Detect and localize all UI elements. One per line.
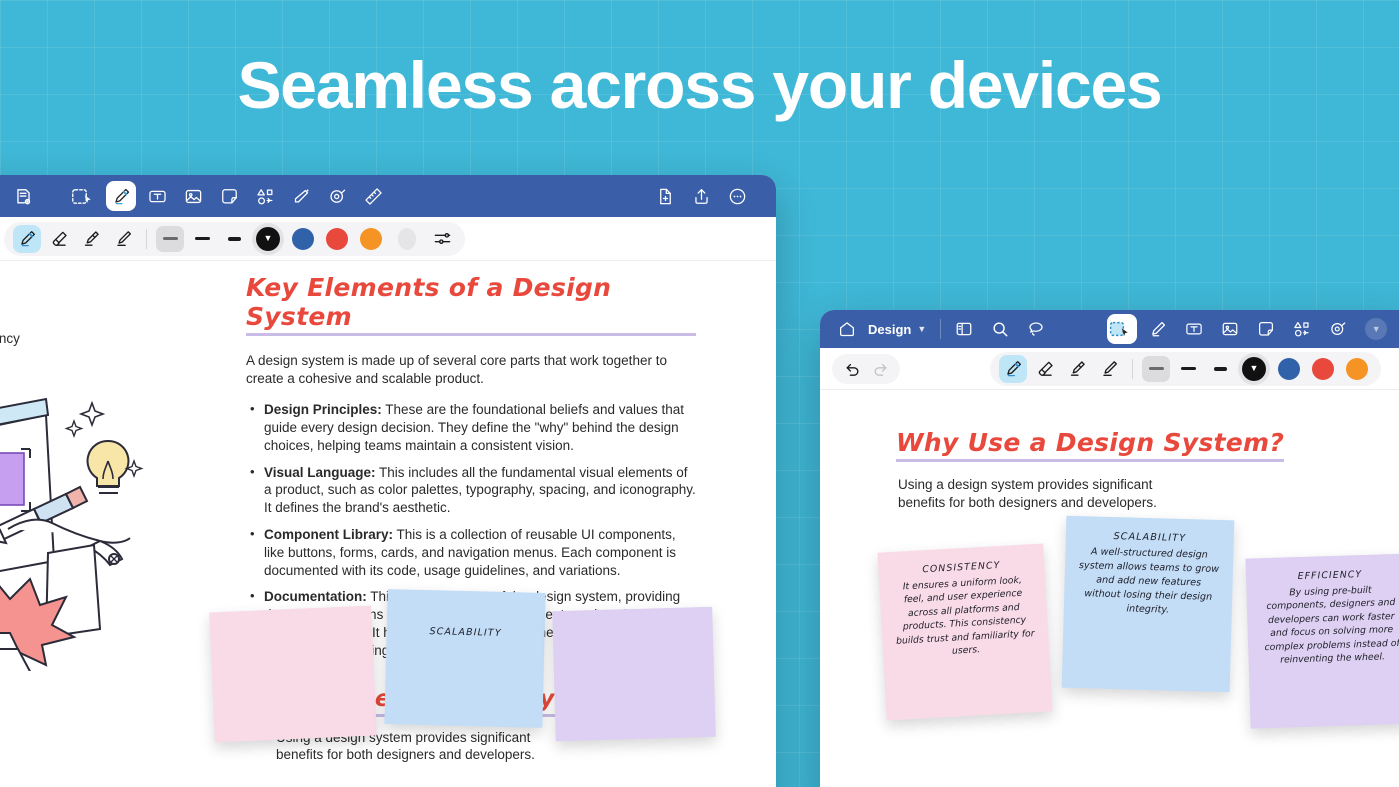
sticky-note-title: SCALABILITY [1078, 530, 1222, 545]
stroke-width-medium[interactable] [188, 226, 216, 252]
intro-paragraph-1: A design system is made up of several co… [246, 352, 696, 387]
color-black[interactable]: ▼ [1242, 357, 1266, 381]
heading-block-1: Key Elements of a Design System [246, 273, 696, 336]
more-tools-icon[interactable]: ▼ [1365, 318, 1387, 340]
magic-eraser-icon[interactable] [286, 181, 316, 211]
laser-pointer-icon[interactable] [322, 181, 352, 211]
sticky-note-title: EFFICIENCY [1258, 568, 1399, 584]
pen-settings-icon[interactable] [428, 225, 456, 253]
image-icon[interactable] [1215, 314, 1245, 344]
tablet-pen-palette: ▼ [820, 348, 1399, 390]
stroke-width-thick[interactable] [156, 226, 184, 252]
stroke-width-thick[interactable] [1142, 356, 1170, 382]
page-title: Seamless across your devices [0, 52, 1399, 118]
color-blue[interactable] [1278, 358, 1300, 380]
notebook-name: Design [868, 322, 911, 337]
list-item: Visual Language: This includes all the f… [246, 464, 696, 517]
sticky-note-efficiency[interactable]: EFFICIENCY By using pre-built components… [1245, 553, 1399, 728]
palette-divider [1132, 359, 1133, 379]
eraser-tool[interactable] [1031, 355, 1059, 383]
bullet-term: Visual Language: [264, 465, 376, 480]
more-options-icon[interactable] [722, 181, 752, 211]
stroke-width-thin[interactable] [220, 226, 248, 252]
sticky-note-icon[interactable] [214, 181, 244, 211]
select-box-icon[interactable] [70, 181, 100, 211]
palette-divider [146, 229, 147, 249]
stroke-width-medium[interactable] [1174, 356, 1202, 382]
sticky-note-body: It ensures a uniform look, feel, and use… [891, 573, 1037, 662]
shapes-icon[interactable] [1287, 314, 1317, 344]
page-root: Seamless across your devices [0, 0, 1399, 787]
sticky-note-scalability-partial[interactable]: SCALABILITY [384, 589, 545, 728]
shapes-icon[interactable] [250, 181, 280, 211]
sticky-note-body: A well-structured design system allows t… [1076, 545, 1222, 619]
tablet-intro-paragraph: Using a design system provides significa… [898, 476, 1188, 511]
chevron-down-icon: ▼ [256, 227, 280, 251]
bullet-term: Design Principles: [264, 402, 382, 417]
desktop-toolbar [0, 175, 776, 217]
highlighter-tool[interactable] [1063, 355, 1091, 383]
sticky-note-scalability[interactable]: SCALABILITY A well-structured design sys… [1062, 516, 1235, 693]
color-orange[interactable] [360, 228, 382, 250]
chevron-down-icon: ▼ [917, 324, 926, 334]
desktop-canvas[interactable]: sive set of standards, ples that guide t… [0, 261, 776, 787]
highlighter-tool[interactable] [77, 225, 105, 253]
document-options-icon[interactable] [8, 181, 38, 211]
sidebar-toggle-icon[interactable] [949, 314, 979, 344]
eraser-tool[interactable] [45, 225, 73, 253]
list-item: Component Library: This is a collection … [246, 526, 696, 579]
sticky-note-icon[interactable] [1251, 314, 1281, 344]
pen-icon[interactable] [106, 181, 136, 211]
sticky-note-efficiency-partial[interactable] [552, 607, 716, 741]
list-item: Design Principles: These are the foundat… [246, 401, 696, 454]
clipped-paragraph: sive set of standards, ples that guide t… [0, 279, 110, 365]
color-red[interactable] [326, 228, 348, 250]
tablet-toolbar: Design ▼ [820, 310, 1399, 348]
sticky-note-body: By using pre-built components, designers… [1258, 583, 1399, 668]
toolbar-separator [940, 319, 941, 339]
history-controls [832, 354, 900, 384]
color-blue[interactable] [292, 228, 314, 250]
chevron-down-icon: ▼ [1242, 357, 1266, 381]
page-heading-1: Key Elements of a Design System [246, 273, 696, 336]
share-icon[interactable] [686, 181, 716, 211]
undo-button[interactable] [838, 355, 866, 383]
pen-tool[interactable] [13, 225, 41, 253]
color-red[interactable] [1312, 358, 1334, 380]
tablet-canvas[interactable]: Why Use a Design System? Using a design … [820, 390, 1399, 787]
desktop-pen-palette: ▼ [0, 217, 776, 261]
color-black[interactable]: ▼ [256, 227, 280, 251]
text-box-icon[interactable] [142, 181, 172, 211]
sticky-note-consistency[interactable]: CONSISTENCY It ensures a uniform look, f… [877, 543, 1052, 720]
pen-tool[interactable] [999, 355, 1027, 383]
tablet-note-window: Design ▼ [820, 310, 1399, 787]
home-icon[interactable] [832, 314, 862, 344]
select-box-icon[interactable] [1107, 314, 1137, 344]
pen-icon[interactable] [1143, 314, 1173, 344]
marker-tool[interactable] [109, 225, 137, 253]
bullet-term: Component Library: [264, 527, 393, 542]
lasso-select-icon[interactable] [0, 181, 2, 211]
bullet-term: Documentation: [264, 589, 367, 604]
add-page-icon[interactable] [650, 181, 680, 211]
pen-palette-pill: ▼ [4, 222, 465, 256]
search-icon[interactable] [985, 314, 1015, 344]
tablet-heading-block: Why Use a Design System? [896, 428, 1284, 462]
desktop-note-window: ▼ sive set of standards, ples that guide… [0, 175, 776, 787]
redo-button[interactable] [866, 355, 894, 383]
notebook-selector[interactable]: Design ▼ [868, 322, 926, 337]
stroke-width-thin[interactable] [1206, 356, 1234, 382]
text-box-icon[interactable] [1179, 314, 1209, 344]
lasso-select-icon[interactable] [1021, 314, 1051, 344]
design-illustration [0, 381, 166, 676]
marker-tool[interactable] [1095, 355, 1123, 383]
tablet-pen-pill: ▼ [990, 352, 1381, 386]
image-icon[interactable] [178, 181, 208, 211]
tablet-heading: Why Use a Design System? [896, 428, 1284, 462]
color-orange[interactable] [1346, 358, 1368, 380]
sticky-note-consistency-partial[interactable] [209, 606, 377, 743]
color-more[interactable] [398, 228, 416, 250]
ruler-icon[interactable] [358, 181, 388, 211]
laser-pointer-icon[interactable] [1323, 314, 1353, 344]
